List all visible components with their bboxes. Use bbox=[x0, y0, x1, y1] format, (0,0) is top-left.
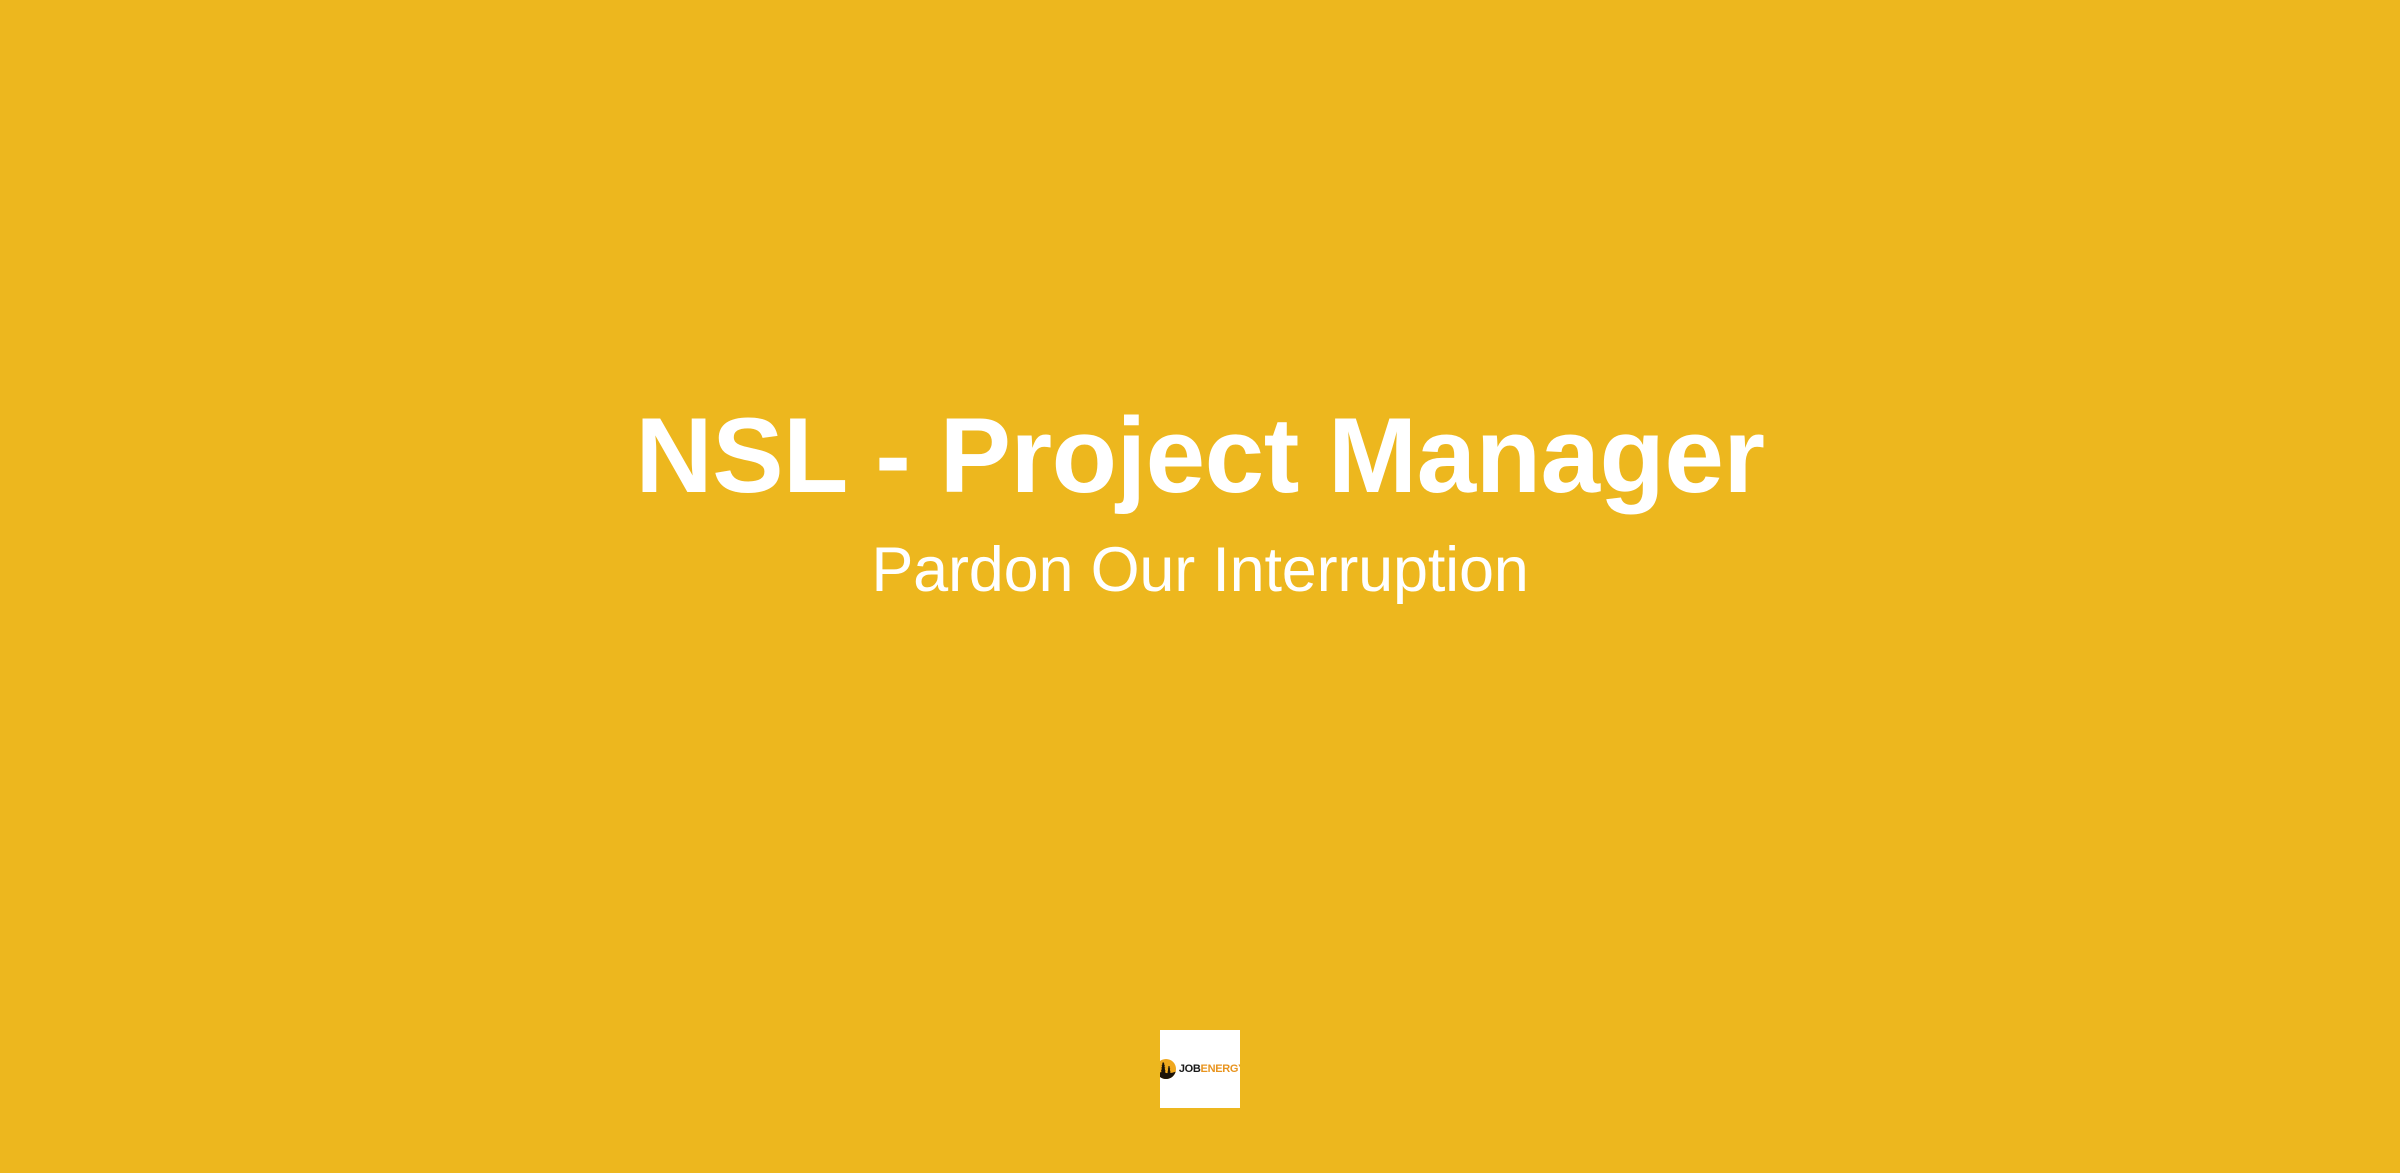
interstitial-page: NSL - Project Manager Pardon Our Interru… bbox=[0, 0, 2400, 1173]
page-subtitle: Pardon Our Interruption bbox=[0, 534, 2400, 607]
message-block: NSL - Project Manager Pardon Our Interru… bbox=[0, 396, 2400, 607]
brand-word-job: JOB bbox=[1179, 1063, 1201, 1075]
brand-logo-card: JOBENERGY bbox=[1160, 1030, 1240, 1108]
sun-oil-derrick-icon bbox=[1160, 1058, 1177, 1080]
brand-word-energy: ENERGY bbox=[1201, 1063, 1240, 1075]
brand-wordmark: JOBENERGY bbox=[1179, 1064, 1240, 1075]
brand-logo: JOBENERGY bbox=[1160, 1058, 1240, 1080]
page-title: NSL - Project Manager bbox=[0, 396, 2400, 516]
